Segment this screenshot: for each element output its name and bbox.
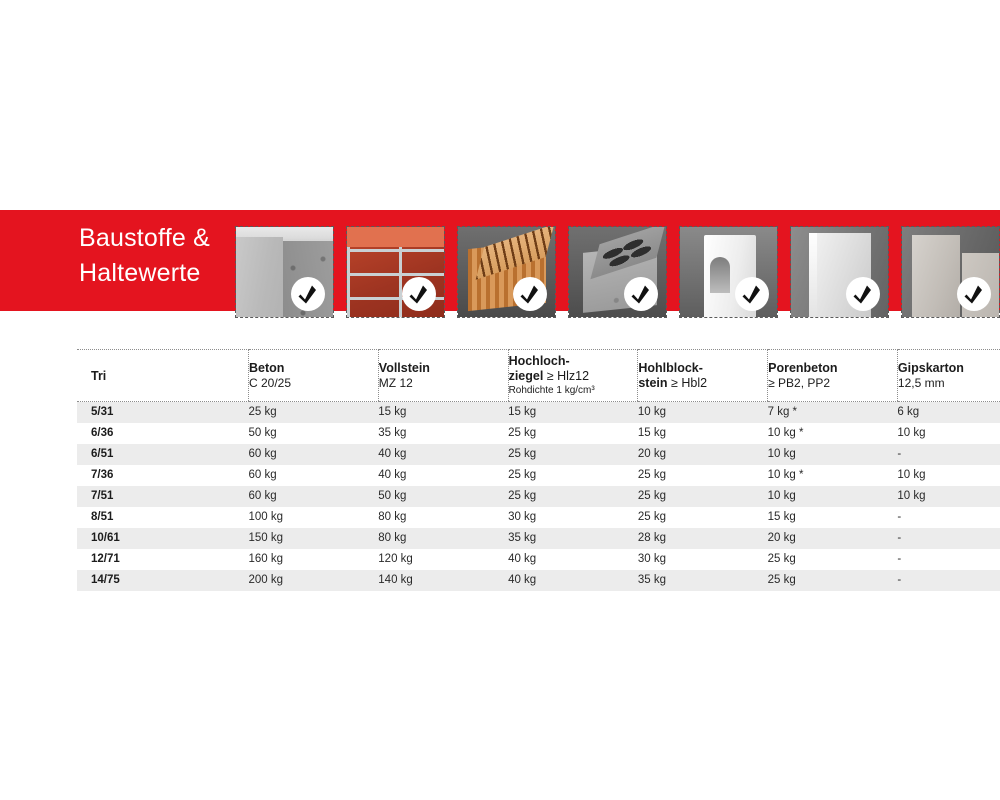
table-cell-beton: 50 kg [249, 423, 379, 444]
table-cell-hohlblockstein: 15 kg [638, 423, 768, 444]
column-header-hochlochziegel-note: Rohdichte 1 kg/cm³ [509, 384, 638, 397]
column-header-vollstein-sub: MZ 12 [379, 376, 508, 391]
thumbnail-beton[interactable] [235, 226, 334, 318]
thumbnail-porenbeton[interactable] [679, 226, 778, 318]
table-cell-hochlochziegel: 40 kg [508, 570, 638, 591]
table-cell-porenbeton: 7 kg * [768, 402, 898, 423]
table-cell-gipskarton: - [897, 444, 1000, 465]
table-cell-gipskarton: 10 kg [897, 486, 1000, 507]
table-cell-gipskarton: 10 kg [897, 465, 1000, 486]
column-header-tri: Tri [77, 350, 249, 402]
table-cell-beton: 200 kg [249, 570, 379, 591]
table-header: Tri Beton C 20/25 Vollstein MZ 12 Hochlo… [77, 350, 1000, 402]
thumbnail-vollstein[interactable] [346, 226, 445, 318]
column-header-porenbeton: Porenbeton ≥ PB2, PP2 [768, 350, 898, 402]
table-row-label: 7/51 [77, 486, 249, 507]
check-badge-icon [957, 277, 991, 311]
table-cell-beton: 60 kg [249, 486, 379, 507]
table-row: 6/5160 kg40 kg25 kg20 kg10 kg-25 kg [77, 444, 1000, 465]
table-row: 12/71160 kg120 kg40 kg30 kg25 kg-- [77, 549, 1000, 570]
column-header-gipskarton: Gipskarton 12,5 mm [897, 350, 1000, 402]
table-row: 7/3660 kg40 kg25 kg25 kg10 kg *10 kg20 k… [77, 465, 1000, 486]
table-cell-hohlblockstein: 20 kg [638, 444, 768, 465]
column-header-beton-main: Beton [249, 361, 378, 376]
table-cell-vollstein: 140 kg [378, 570, 508, 591]
table-cell-hohlblockstein: 30 kg [638, 549, 768, 570]
table-cell-beton: 60 kg [249, 444, 379, 465]
check-badge-icon [513, 277, 547, 311]
thumbnail-gipskarton[interactable] [790, 226, 889, 318]
table-cell-beton: 60 kg [249, 465, 379, 486]
table-cell-hochlochziegel: 15 kg [508, 402, 638, 423]
table-cell-vollstein: 35 kg [378, 423, 508, 444]
table-cell-gipskarton: - [897, 549, 1000, 570]
column-header-gipskarton-main: Gipskarton [898, 361, 1000, 376]
table-cell-hochlochziegel: 30 kg [508, 507, 638, 528]
column-header-vollstein-main: Vollstein [379, 361, 508, 376]
column-header-hohlblockstein-main2: stein ≥ Hbl2 [638, 376, 767, 391]
table-cell-beton: 160 kg [249, 549, 379, 570]
hochlochziegel-word: ziegel [509, 369, 544, 383]
table-cell-vollstein: 50 kg [378, 486, 508, 507]
check-badge-icon [291, 277, 325, 311]
table-cell-porenbeton: 25 kg [768, 549, 898, 570]
table-cell-hochlochziegel: 35 kg [508, 528, 638, 549]
table-cell-vollstein: 120 kg [378, 549, 508, 570]
table-cell-porenbeton: 10 kg * [768, 465, 898, 486]
column-header-hochlochziegel-main2: ziegel ≥ Hlz12 [509, 369, 638, 384]
table-row-label: 7/36 [77, 465, 249, 486]
table-row: 8/51100 kg80 kg30 kg25 kg15 kg-30 kg [77, 507, 1000, 528]
hochlochziegel-grade: ≥ Hlz12 [543, 369, 589, 383]
table-cell-gipskarton: - [897, 528, 1000, 549]
table-cell-beton: 150 kg [249, 528, 379, 549]
column-header-hohlblockstein: Hohlblock- stein ≥ Hbl2 [638, 350, 768, 402]
column-header-gipskarton-sub: 12,5 mm [898, 376, 1000, 391]
material-thumbnail-strip [235, 226, 1000, 318]
table-cell-hohlblockstein: 25 kg [638, 465, 768, 486]
check-badge-icon [402, 277, 436, 311]
table-cell-vollstein: 40 kg [378, 465, 508, 486]
table-cell-gipskarton: - [897, 507, 1000, 528]
table-cell-porenbeton: 15 kg [768, 507, 898, 528]
table-cell-porenbeton: 25 kg [768, 570, 898, 591]
table-cell-hohlblockstein: 35 kg [638, 570, 768, 591]
table-cell-hochlochziegel: 25 kg [508, 444, 638, 465]
table-row-label: 5/31 [77, 402, 249, 423]
table-row: 14/75200 kg140 kg40 kg35 kg25 kg-- [77, 570, 1000, 591]
table-cell-vollstein: 80 kg [378, 507, 508, 528]
table-row-label: 6/36 [77, 423, 249, 444]
table-row-label: 6/51 [77, 444, 249, 465]
table-row-label: 14/75 [77, 570, 249, 591]
column-header-porenbeton-main: Porenbeton [768, 361, 897, 376]
hohlblockstein-word: stein [638, 376, 667, 390]
table-body: 5/3125 kg15 kg15 kg10 kg7 kg *6 kg15 kg6… [77, 402, 1000, 591]
column-header-vollstein: Vollstein MZ 12 [378, 350, 508, 402]
table-row-label: 8/51 [77, 507, 249, 528]
table-cell-vollstein: 80 kg [378, 528, 508, 549]
table-cell-porenbeton: 10 kg [768, 444, 898, 465]
thumbnail-gipsfaser[interactable] [901, 226, 1000, 318]
table-row: 5/3125 kg15 kg15 kg10 kg7 kg *6 kg15 kg [77, 402, 1000, 423]
check-badge-icon [846, 277, 880, 311]
table-cell-hochlochziegel: 40 kg [508, 549, 638, 570]
column-header-hohlblockstein-main: Hohlblock- [638, 361, 767, 376]
table-row: 6/3650 kg35 kg25 kg15 kg10 kg *10 kg20 k… [77, 423, 1000, 444]
table-header-row: Tri Beton C 20/25 Vollstein MZ 12 Hochlo… [77, 350, 1000, 402]
table-cell-hohlblockstein: 10 kg [638, 402, 768, 423]
table-cell-gipskarton: 10 kg [897, 423, 1000, 444]
table-row-label: 12/71 [77, 549, 249, 570]
table-cell-porenbeton: 10 kg [768, 486, 898, 507]
table-cell-gipskarton: 6 kg [897, 402, 1000, 423]
table-row: 7/5160 kg50 kg25 kg25 kg10 kg10 kg20 kg [77, 486, 1000, 507]
table-cell-porenbeton: 20 kg [768, 528, 898, 549]
thumbnail-hohlblockstein[interactable] [568, 226, 667, 318]
table-cell-hochlochziegel: 25 kg [508, 423, 638, 444]
table-cell-hohlblockstein: 25 kg [638, 507, 768, 528]
table-row: 10/61150 kg80 kg35 kg28 kg20 kg-30 kg [77, 528, 1000, 549]
column-header-porenbeton-sub: ≥ PB2, PP2 [768, 376, 897, 391]
table-cell-hohlblockstein: 25 kg [638, 486, 768, 507]
check-badge-icon [735, 277, 769, 311]
column-header-tri-label: Tri [91, 369, 106, 383]
table-cell-hochlochziegel: 25 kg [508, 486, 638, 507]
table-cell-hohlblockstein: 28 kg [638, 528, 768, 549]
column-header-hochlochziegel-main: Hochloch- [509, 354, 638, 369]
column-header-beton: Beton C 20/25 [249, 350, 379, 402]
table-cell-vollstein: 40 kg [378, 444, 508, 465]
table-cell-porenbeton: 10 kg * [768, 423, 898, 444]
check-badge-icon [624, 277, 658, 311]
table-cell-beton: 100 kg [249, 507, 379, 528]
column-header-hochlochziegel: Hochloch- ziegel ≥ Hlz12 Rohdichte 1 kg/… [508, 350, 638, 402]
haltewerte-table-wrapper: Tri Beton C 20/25 Vollstein MZ 12 Hochlo… [77, 349, 1000, 591]
table-cell-vollstein: 15 kg [378, 402, 508, 423]
table-cell-hochlochziegel: 25 kg [508, 465, 638, 486]
table-cell-beton: 25 kg [249, 402, 379, 423]
hohlblockstein-grade: ≥ Hbl2 [668, 376, 708, 390]
thumbnail-hochlochziegel[interactable] [457, 226, 556, 318]
table-row-label: 10/61 [77, 528, 249, 549]
column-header-beton-sub: C 20/25 [249, 376, 378, 391]
table-cell-gipskarton: - [897, 570, 1000, 591]
haltewerte-table: Tri Beton C 20/25 Vollstein MZ 12 Hochlo… [77, 349, 1000, 591]
